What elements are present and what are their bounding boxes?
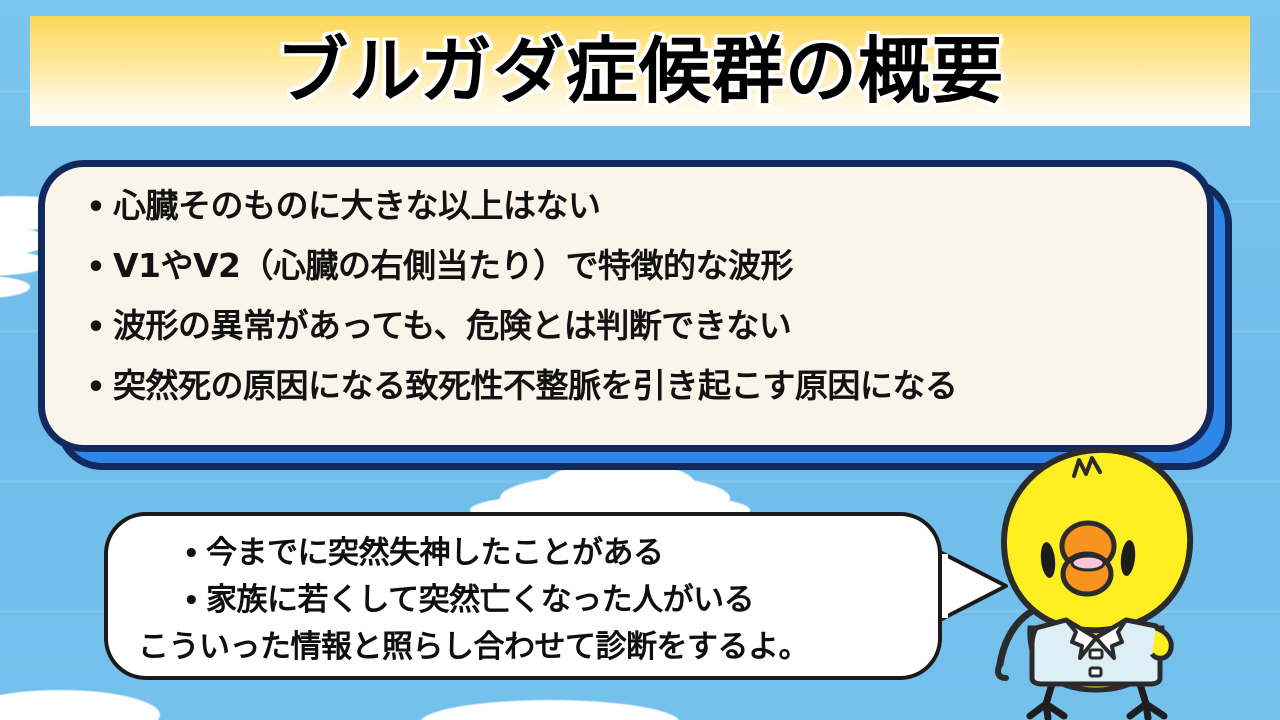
bullet-marker-icon: •: [79, 313, 113, 343]
bubble-list-item: • 今までに突然失神したことがある: [138, 530, 920, 577]
bullet-marker-icon: •: [176, 541, 206, 567]
bullet-text: 波形の異常があっても、危険とは判断できない: [113, 309, 791, 342]
bubble-bullet-text: 家族に若くして突然亡くなった人がいる: [206, 585, 754, 616]
slide-canvas: ブルガダ症候群の概要 • 心臓そのものに大きな以上はない • V1やV2（心臓の…: [0, 0, 1280, 720]
list-item: • 波形の異常があっても、危険とは判断できない: [79, 309, 1181, 369]
list-item: • 突然死の原因になる致死性不整脈を引き起こす原因になる: [79, 369, 1181, 429]
bullet-marker-icon: •: [176, 588, 206, 614]
bullet-text: 突然死の原因になる致死性不整脈を引き起こす原因になる: [113, 369, 957, 402]
list-item: • 心臓そのものに大きな以上はない: [79, 189, 1181, 249]
bullet-marker-icon: •: [79, 193, 113, 223]
bubble-closing-line: こういった情報と照らし合わせて診断をするよ。: [138, 624, 920, 671]
bullet-text: V1やV2（心臓の右側当たり）で特徴的な波形: [113, 249, 793, 282]
bullet-marker-icon: •: [79, 373, 113, 403]
bullet-marker-icon: •: [79, 253, 113, 283]
chick-character: [980, 432, 1260, 720]
main-content-box: • 心臓そのものに大きな以上はない • V1やV2（心臓の右側当たり）で特徴的な…: [38, 160, 1214, 452]
bubble-bullet-text: 今までに突然失神したことがある: [206, 538, 664, 569]
list-item: • V1やV2（心臓の右側当たり）で特徴的な波形: [79, 249, 1181, 309]
bubble-list-item: • 家族に若くして突然亡くなった人がいる: [138, 577, 920, 624]
page-title: ブルガダ症候群の概要: [276, 35, 1004, 107]
title-banner: ブルガダ症候群の概要: [30, 16, 1250, 126]
speech-bubble: • 今までに突然失神したことがある • 家族に若くして突然亡くなった人がいる こ…: [104, 512, 942, 680]
main-bullet-list: • 心臓そのものに大きな以上はない • V1やV2（心臓の右側当たり）で特徴的な…: [79, 189, 1181, 429]
bullet-text: 心臓そのものに大きな以上はない: [113, 189, 601, 222]
